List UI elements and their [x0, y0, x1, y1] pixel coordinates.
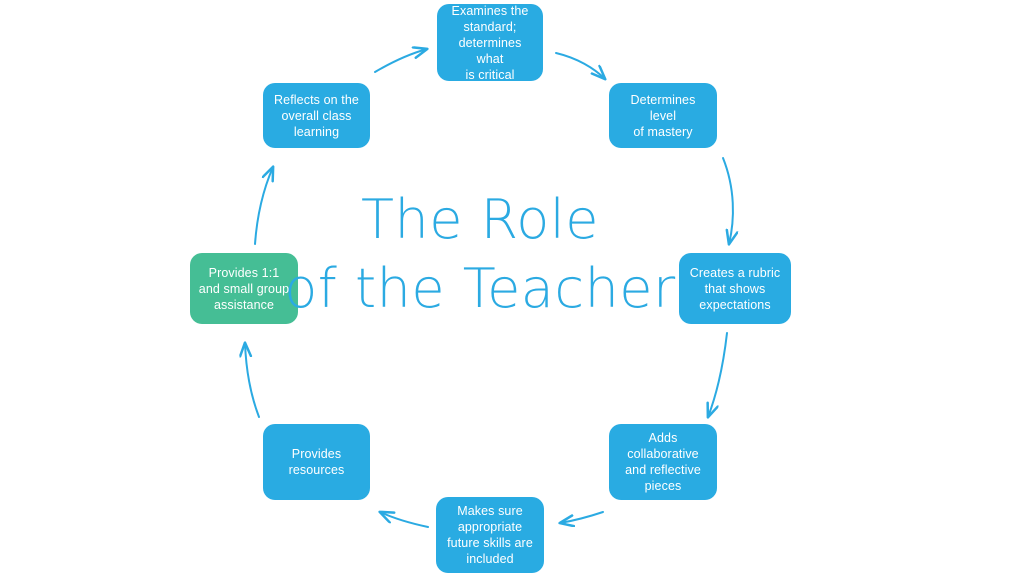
center-title-line-2: of the Teacher: [270, 255, 690, 324]
center-title: The Role of the Teacher: [270, 186, 690, 323]
arrow-adds-to-future-skills: [560, 512, 603, 523]
node-label: Determines level of mastery: [616, 92, 710, 140]
arrow-future-skills-to-resources: [380, 512, 428, 527]
node-makes-sure-future-skills[interactable]: Makes sure appropriate future skills are…: [436, 497, 544, 573]
node-label: Creates a rubric that shows expectations: [686, 265, 784, 313]
node-adds-collaborative[interactable]: Adds collaborative and reflective pieces: [609, 424, 717, 500]
arrow-examines-to-determines: [556, 53, 605, 79]
center-title-line-1: The Role: [270, 186, 690, 255]
arrow-rubric-to-adds: [708, 333, 727, 417]
node-provides-resources[interactable]: Provides resources: [263, 424, 370, 500]
node-label: Examines the standard; determines what i…: [444, 3, 536, 83]
node-label: Provides resources: [270, 446, 363, 478]
arrow-resources-to-one-to-one: [245, 343, 259, 417]
node-label: Reflects on the overall class learning: [270, 92, 363, 140]
diagram-canvas: Examines the standard; determines what i…: [0, 0, 1024, 576]
node-determines-mastery[interactable]: Determines level of mastery: [609, 83, 717, 148]
node-examines-standard[interactable]: Examines the standard; determines what i…: [437, 4, 543, 81]
arrow-determines-to-rubric: [723, 158, 733, 244]
node-creates-rubric[interactable]: Creates a rubric that shows expectations: [679, 253, 791, 324]
node-label: Adds collaborative and reflective pieces: [616, 430, 710, 494]
arrow-reflects-to-examines: [375, 49, 427, 72]
node-label: Makes sure appropriate future skills are…: [443, 503, 537, 567]
node-reflects-on-learning[interactable]: Reflects on the overall class learning: [263, 83, 370, 148]
